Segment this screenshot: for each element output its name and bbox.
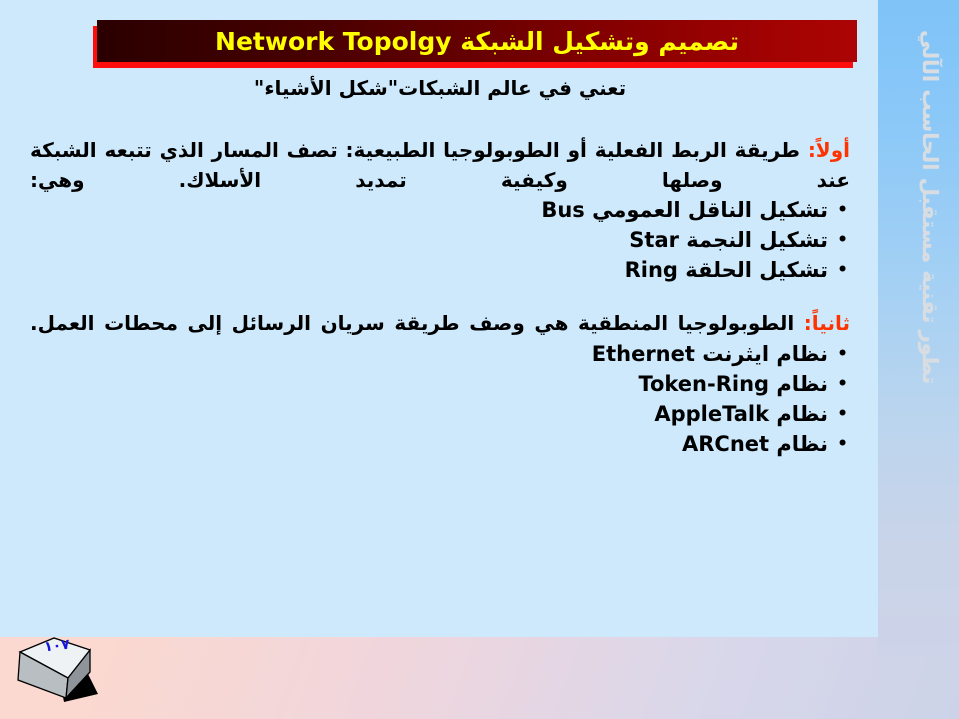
section-2-bullet-list: نظام ايثرنت Ethernet نظام Token-Ring نظا… xyxy=(30,339,850,459)
list-item: تشكيل الحلقة Ring xyxy=(30,255,850,285)
section-1-bullet-list: تشكيل الناقل العمومي Bus تشكيل النجمة St… xyxy=(30,195,850,285)
list-item: تشكيل النجمة Star xyxy=(30,225,850,255)
list-item: نظام Token-Ring xyxy=(30,369,850,399)
slide-canvas: تطور تقنية مستقبل الحاسب الآلي تصميم وتش… xyxy=(0,0,959,719)
sidebar-vertical-text: تطور تقنية مستقبل الحاسب الآلي xyxy=(918,30,942,384)
section-1-paragraph: أولاً: طريقة الربط الفعلية أو الطوبولوجي… xyxy=(30,136,850,195)
section-2-marker: ثانياً: xyxy=(804,311,850,335)
section-1-marker: أولاً: xyxy=(808,138,850,162)
list-item: نظام AppleTalk xyxy=(30,399,850,429)
section-2-body: الطوبولوجيا المنطقية هي وصف طريقة سريان … xyxy=(30,311,804,335)
list-item: نظام ARCnet xyxy=(30,429,850,459)
list-item: تشكيل الناقل العمومي Bus xyxy=(30,195,850,225)
lead-statement: تعني في عالم الشبكات"شكل الأشياء" xyxy=(30,78,850,108)
page-title: تصميم وتشكيل الشبكة Network Topolgy xyxy=(215,29,739,54)
spacer xyxy=(30,285,850,309)
section-2-paragraph: ثانياً: الطوبولوجيا المنطقية هي وصف طريق… xyxy=(30,309,850,339)
section-1-body: طريقة الربط الفعلية أو الطوبولوجيا الطبي… xyxy=(30,138,850,192)
spacer xyxy=(30,108,850,136)
list-item: نظام ايثرنت Ethernet xyxy=(30,339,850,369)
slide-content: تعني في عالم الشبكات"شكل الأشياء" أولاً:… xyxy=(30,78,850,459)
sidebar-vertical-banner: تطور تقنية مستقبل الحاسب الآلي xyxy=(878,0,959,655)
title-banner: تصميم وتشكيل الشبكة Network Topolgy xyxy=(97,20,857,62)
